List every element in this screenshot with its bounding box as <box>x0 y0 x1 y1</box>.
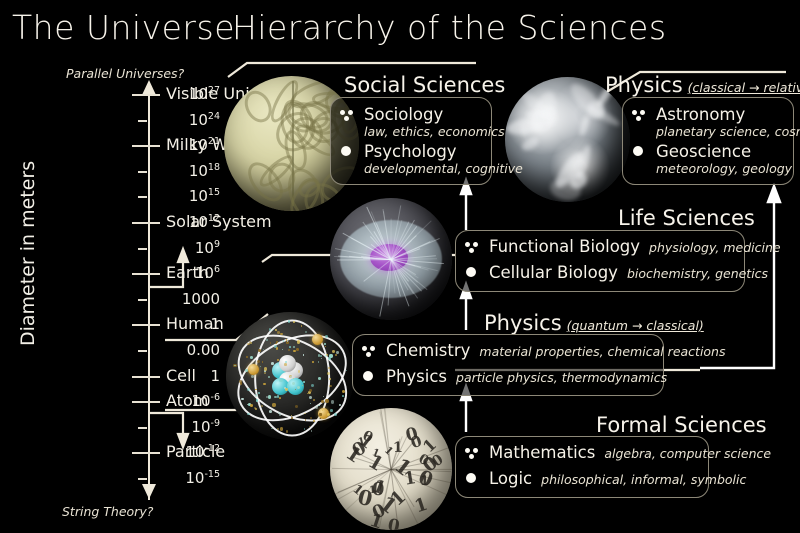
box-formal-sciences[interactable]: Mathematicsalgebra, computer scienceLogi… <box>455 436 709 498</box>
axis-tick-value: 10-15 <box>134 469 220 487</box>
box-life-sciences[interactable]: Functional Biologyphysiology, medicineCe… <box>455 230 745 292</box>
discipline-name: Physics <box>386 367 447 386</box>
single-dot-bullet-icon <box>340 143 357 157</box>
axis-tick-label: Cell <box>166 366 196 385</box>
discipline-subtitle: law, ethics, economics <box>364 124 505 139</box>
axis-tick-label: Solar System <box>166 212 272 231</box>
discipline-name: Chemistry <box>386 341 470 360</box>
axis-tick-value: 1018 <box>134 162 220 180</box>
box-physics-top[interactable]: Astronomyplanetary science, cosmologyGeo… <box>622 97 794 185</box>
axis-tick-value: 1015 <box>134 187 220 205</box>
discipline-entry[interactable]: Mathematicsalgebra, computer science <box>465 443 699 462</box>
cell-sphere <box>330 198 452 320</box>
discipline-entry[interactable]: Geosciencemeteorology, geology <box>632 142 784 176</box>
discipline-subtitle: meteorology, geology <box>656 161 792 176</box>
triple-dot-bullet-icon <box>465 238 482 252</box>
box-title-social: Social Sciences <box>344 73 505 97</box>
box-title-formal: Formal Sciences <box>596 413 767 437</box>
box-title-physics-mid: Physics(quantum → classical) <box>484 311 704 335</box>
axis-tick-label: Atom <box>166 391 208 410</box>
axis-note-top: Parallel Universes? <box>66 66 184 81</box>
discipline-name: Cellular Biology <box>489 263 618 282</box>
triple-dot-bullet-icon <box>340 106 357 120</box>
atom-sphere <box>226 312 354 440</box>
discipline-subtitle: particle physics, thermodynamics <box>456 370 667 385</box>
axis-tick-value: 0.00 <box>134 341 220 359</box>
single-dot-bullet-icon <box>465 470 482 484</box>
box-title-life: Life Sciences <box>618 206 755 230</box>
diameter-scale: Parallel Universes? String Theory? 1027V… <box>40 78 220 518</box>
axis-tick-value: 109 <box>134 239 220 257</box>
page-title-hierarchy: Hierarchy of the Sciences <box>232 8 667 47</box>
single-dot-bullet-icon <box>362 368 379 382</box>
discipline-entry[interactable]: Logicphilosophical, informal, symbolic <box>465 469 699 488</box>
axis-tick-label: Human <box>166 314 224 333</box>
box-physics-mid[interactable]: Chemistrymaterial properties, chemical r… <box>352 334 664 396</box>
box-title-physics-top: Physics(classical → relativistic) <box>605 73 800 97</box>
discipline-entry[interactable]: Chemistrymaterial properties, chemical r… <box>362 341 654 360</box>
axis-note-bottom: String Theory? <box>62 504 153 519</box>
discipline-subtitle: planetary science, cosmology <box>656 124 800 139</box>
page-title-universe: The Universe <box>12 8 235 47</box>
discipline-entry[interactable]: Sociologylaw, ethics, economics <box>340 105 482 139</box>
box-social-sciences[interactable]: Sociologylaw, ethics, economicsPsycholog… <box>330 97 492 185</box>
axis-tick-label: Particle <box>166 442 225 461</box>
discipline-name: Astronomy <box>656 105 745 124</box>
single-dot-bullet-icon <box>632 143 649 157</box>
axis-tick-label: Earth <box>166 263 209 282</box>
discipline-entry[interactable]: Astronomyplanetary science, cosmology <box>632 105 784 139</box>
binary-sphere: 110110011011010110011111000101 <box>330 408 452 530</box>
discipline-name: Geoscience <box>656 142 751 161</box>
discipline-name: Functional Biology <box>489 237 640 256</box>
discipline-subtitle: algebra, computer science <box>604 446 771 461</box>
discipline-subtitle: philosophical, informal, symbolic <box>541 472 746 487</box>
infographic-canvas: The Universe Hierarchy of the Sciences <box>0 0 800 533</box>
discipline-subtitle: biochemistry, genetics <box>627 266 768 281</box>
discipline-entry[interactable]: Physicsparticle physics, thermodynamics <box>362 367 654 386</box>
discipline-subtitle: developmental, cognitive <box>364 161 523 176</box>
single-dot-bullet-icon <box>465 264 482 278</box>
discipline-entry[interactable]: Functional Biologyphysiology, medicine <box>465 237 735 256</box>
axis-tick-value: 10-9 <box>134 418 220 436</box>
axis-title: Diameter in meters <box>17 166 39 346</box>
triple-dot-bullet-icon <box>362 342 379 356</box>
discipline-name: Psychology <box>364 142 457 161</box>
discipline-entry[interactable]: Cellular Biologybiochemistry, genetics <box>465 263 735 282</box>
axis-tick-value: 1000 <box>134 290 220 308</box>
discipline-name: Logic <box>489 469 532 488</box>
axis-tick-value: 1024 <box>134 111 220 129</box>
discipline-name: Mathematics <box>489 443 595 462</box>
discipline-name: Sociology <box>364 105 443 124</box>
discipline-entry[interactable]: Psychologydevelopmental, cognitive <box>340 142 482 176</box>
triple-dot-bullet-icon <box>465 444 482 458</box>
discipline-subtitle: material properties, chemical reactions <box>479 344 725 359</box>
triple-dot-bullet-icon <box>632 106 649 120</box>
discipline-subtitle: physiology, medicine <box>649 240 781 255</box>
